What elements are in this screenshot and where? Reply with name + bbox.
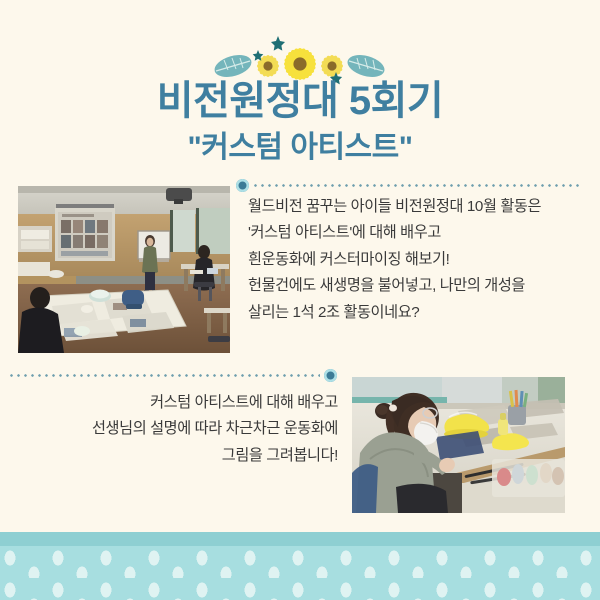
bottom-line-3: 그림을 그려봅니다!: [4, 443, 338, 469]
top-line-4: 헌물건에도 새생명을 불어넣고, 나만의 개성을: [248, 273, 594, 299]
footer-strip: [0, 532, 600, 546]
sunflower-center-icon: [283, 47, 317, 81]
bottom-line-2: 선생님의 설명에 따라 차근차근 운동화에: [4, 416, 338, 442]
bottom-description-text: 커스텀 아티스트에 대해 배우고 선생님의 설명에 따라 차근차근 운동화에 그…: [4, 390, 338, 469]
page-subtitle: "커스텀 아티스트": [0, 130, 600, 166]
top-line-1: 월드비전 꿈꾸는 아이들 비전원정대 10월 활동은: [248, 194, 594, 220]
painting-photo: [352, 377, 565, 513]
top-line-3: 흰운동화에 커스터마이징 해보기!: [248, 247, 594, 273]
bottom-line-1: 커스텀 아티스트에 대해 배우고: [4, 390, 338, 416]
classroom-photo: [18, 186, 230, 353]
top-dot-marker-icon: [236, 179, 249, 192]
leaf-left-icon: [212, 51, 254, 81]
page-title: 비전원정대 5회기: [0, 78, 600, 124]
sunflower-right-icon: [320, 54, 344, 78]
leaf-right-icon: [345, 51, 387, 81]
top-description-text: 월드비전 꿈꾸는 아이들 비전원정대 10월 활동은 '커스텀 아티스트'에 대…: [248, 194, 594, 326]
bottom-dotted-divider: [8, 374, 320, 377]
poster-canvas: 비전원정대 5회기 "커스텀 아티스트": [0, 0, 600, 600]
footer-polkadot-band: [0, 546, 600, 600]
top-line-5: 살리는 1석 2조 활동이네요?: [248, 300, 594, 326]
bottom-dot-marker-icon: [324, 369, 337, 382]
top-line-2: '커스텀 아티스트'에 대해 배우고: [248, 220, 594, 246]
top-dotted-divider: [252, 184, 582, 187]
polkadot-pattern: [0, 546, 600, 600]
